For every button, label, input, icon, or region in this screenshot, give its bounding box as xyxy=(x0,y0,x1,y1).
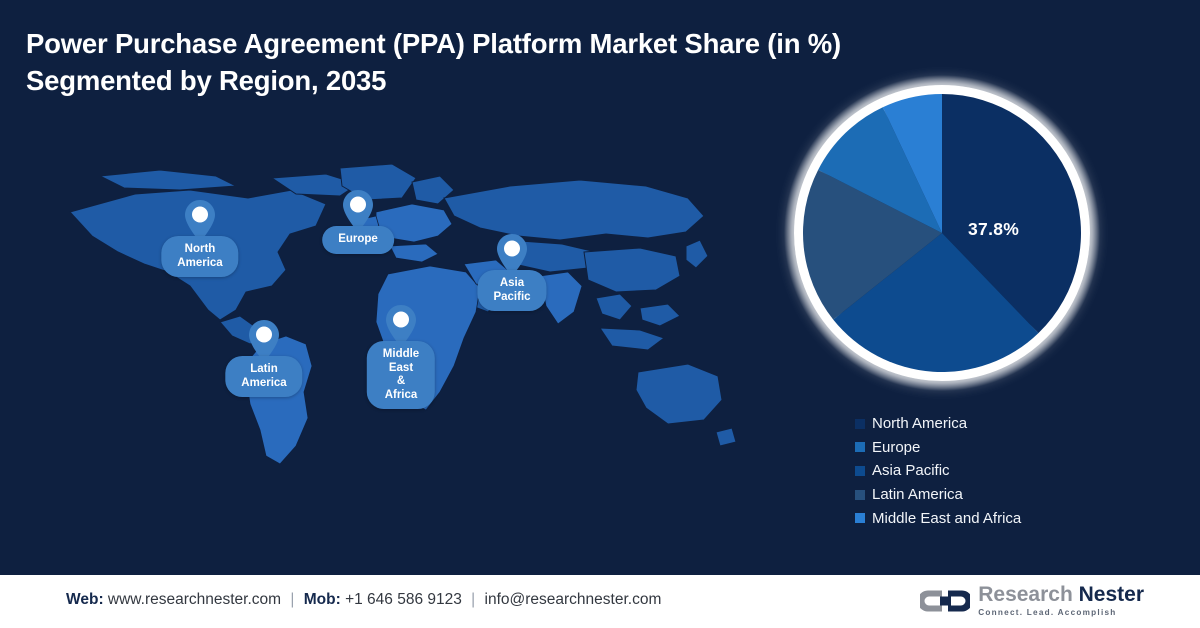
legend-item-middle-east-and-africa[interactable]: Middle East and Africa xyxy=(855,506,1021,530)
world-map: North AmericaEuropeAsia PacificMiddle Ea… xyxy=(40,160,740,500)
infographic-canvas: Power Purchase Agreement (PPA) Platform … xyxy=(0,0,1200,628)
map-marker-label: Europe xyxy=(322,226,394,254)
legend-label: Europe xyxy=(872,439,920,456)
title-line-1: Power Purchase Agreement (PPA) Platform … xyxy=(26,28,841,59)
footer-mob-value: +1 646 586 9123 xyxy=(345,591,462,608)
footer-bar: Web: www.researchnester.com | Mob: +1 64… xyxy=(0,573,1200,628)
legend-label: North America xyxy=(872,415,967,432)
pie-chart: 37.8% xyxy=(772,63,1112,403)
footer-mob-label: Mob: xyxy=(304,591,341,608)
legend-item-asia-pacific[interactable]: Asia Pacific xyxy=(855,459,1021,483)
footer-web-value[interactable]: www.researchnester.com xyxy=(108,591,281,608)
footer-email[interactable]: info@researchnester.com xyxy=(485,591,662,608)
legend-swatch-icon xyxy=(855,490,865,500)
legend-label: Middle East and Africa xyxy=(872,510,1021,527)
map-marker-label: Asia Pacific xyxy=(477,270,546,311)
logo-wordmark: Research Nester Connect. Lead. Accomplis… xyxy=(978,584,1144,617)
logo-word-research: Research xyxy=(978,583,1073,606)
pie-slices xyxy=(803,94,1081,372)
logo-tagline: Connect. Lead. Accomplish xyxy=(978,608,1144,617)
legend-swatch-icon xyxy=(855,419,865,429)
legend-label: Latin America xyxy=(872,486,963,503)
logo-link-icon xyxy=(920,586,970,616)
research-nester-logo[interactable]: Research Nester Connect. Lead. Accomplis… xyxy=(920,584,1144,617)
legend-label: Asia Pacific xyxy=(872,462,950,479)
footer-web-label: Web: xyxy=(66,591,104,608)
legend-swatch-icon xyxy=(855,513,865,523)
legend-item-latin-america[interactable]: Latin America xyxy=(855,483,1021,507)
footer-contact-line: Web: www.researchnester.com | Mob: +1 64… xyxy=(66,591,661,609)
map-marker-label: North America xyxy=(161,236,238,277)
map-marker-label: Middle East & Africa xyxy=(367,341,435,409)
map-marker-label: Latin America xyxy=(225,356,302,397)
title-line-2: Segmented by Region, 2035 xyxy=(26,65,386,96)
footer-separator-1: | xyxy=(285,591,299,608)
footer-separator-2: | xyxy=(466,591,480,608)
legend-item-europe[interactable]: Europe xyxy=(855,436,1021,460)
legend-swatch-icon xyxy=(855,442,865,452)
legend-swatch-icon xyxy=(855,466,865,476)
chart-legend: North AmericaEuropeAsia PacificLatin Ame… xyxy=(855,412,1021,530)
legend-item-north-america[interactable]: North America xyxy=(855,412,1021,436)
logo-word-nester: Nester xyxy=(1079,583,1144,606)
pie-slice-label-north-america: 37.8% xyxy=(968,219,1019,240)
